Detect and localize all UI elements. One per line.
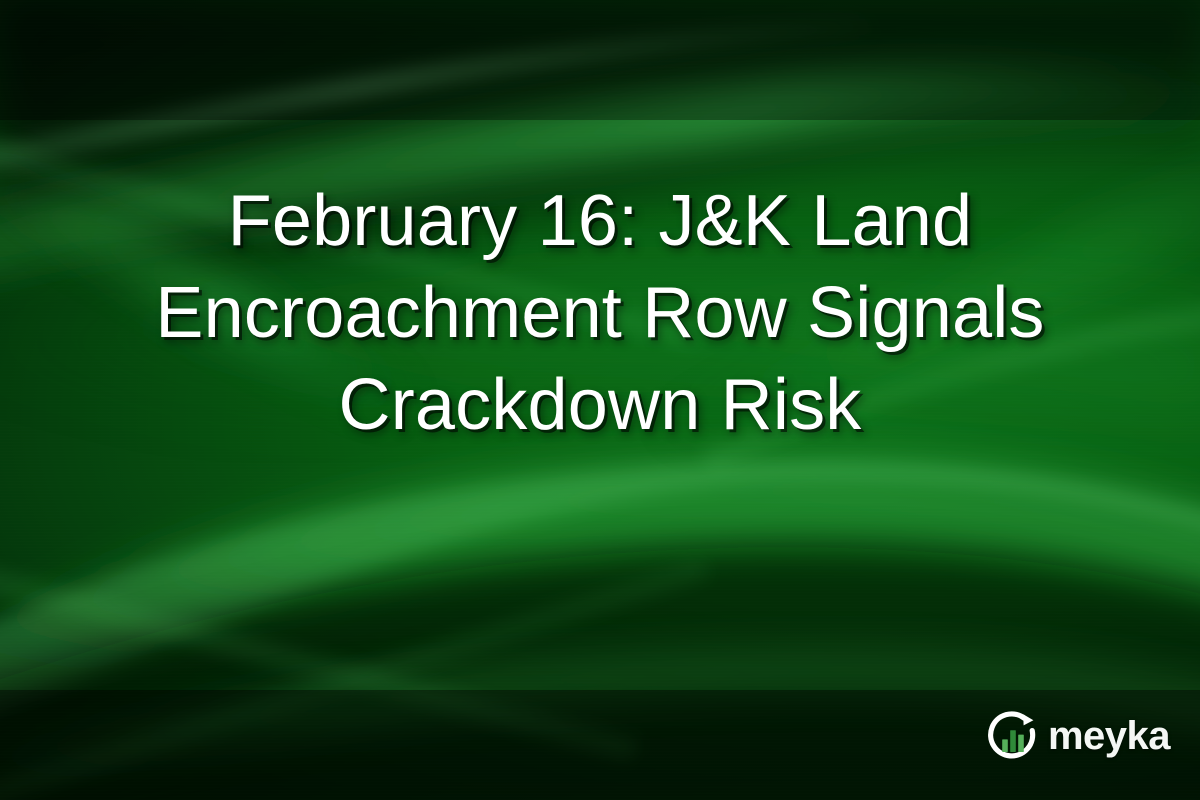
page-title: February 16: J&K Land Encroachment Row S… [0,175,1200,451]
brand-wordmark: meyka [1048,716,1170,756]
news-banner-card: February 16: J&K Land Encroachment Row S… [0,0,1200,800]
circular-bar-chart-icon [987,710,1039,762]
brand-logo[interactable]: meyka [987,710,1170,762]
